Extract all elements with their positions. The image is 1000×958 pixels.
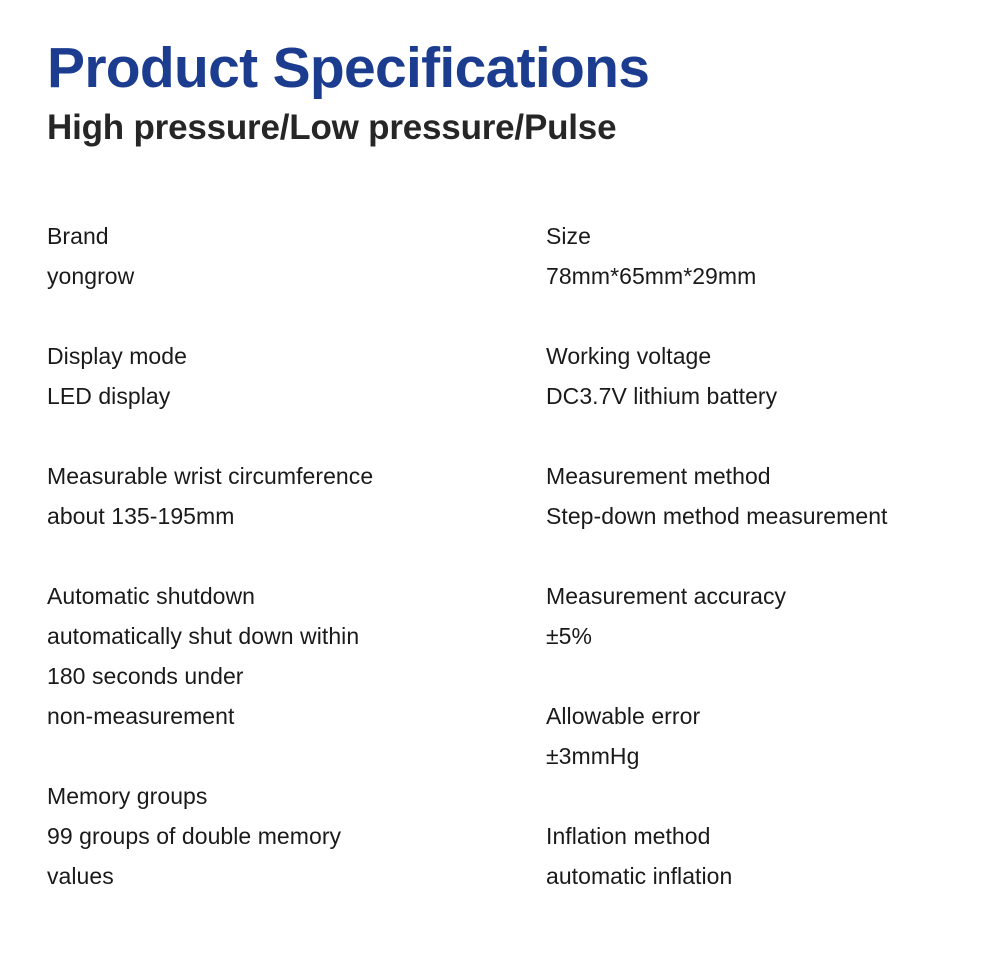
spec-group: Size78mm*65mm*29mm: [546, 216, 976, 296]
spec-label: Inflation method: [546, 816, 976, 856]
spec-value-line: 99 groups of double memory: [47, 816, 517, 856]
spec-label: Measurable wrist circumference: [47, 456, 517, 496]
spec-value-line: ±3mmHg: [546, 736, 976, 776]
spec-label: Working voltage: [546, 336, 976, 376]
page-title: Product Specifications: [47, 36, 947, 100]
spec-group: Allowable error±3mmHg: [546, 696, 976, 776]
spec-label: Brand: [47, 216, 517, 256]
spec-group: Automatic shutdownautomatically shut dow…: [47, 576, 517, 736]
spec-value-line: LED display: [47, 376, 517, 416]
spec-value-line: Step-down method measurement: [546, 496, 976, 536]
spec-value-line: non-measurement: [47, 696, 517, 736]
spec-value-line: ±5%: [546, 616, 976, 656]
spec-value-line: 78mm*65mm*29mm: [546, 256, 976, 296]
spec-value-line: DC3.7V lithium battery: [546, 376, 976, 416]
spec-group: Memory groups99 groups of double memoryv…: [47, 776, 517, 896]
spec-label: Size: [546, 216, 976, 256]
spec-value-line: automatic inflation: [546, 856, 976, 896]
spec-value-line: 180 seconds under: [47, 656, 517, 696]
spec-label: Memory groups: [47, 776, 517, 816]
spec-label: Measurement accuracy: [546, 576, 976, 616]
spec-value-line: values: [47, 856, 517, 896]
spec-value-line: about 135-195mm: [47, 496, 517, 536]
spec-value-line: yongrow: [47, 256, 517, 296]
spec-group: Working voltageDC3.7V lithium battery: [546, 336, 976, 416]
spec-group: Inflation methodautomatic inflation: [546, 816, 976, 896]
spec-group: Brandyongrow: [47, 216, 517, 296]
product-specifications-page: Product Specifications High pressure/Low…: [0, 0, 1000, 958]
spec-column-left: BrandyongrowDisplay modeLED displayMeasu…: [47, 216, 517, 896]
spec-group: Display modeLED display: [47, 336, 517, 416]
spec-group: Measurement accuracy±5%: [546, 576, 976, 656]
spec-group: Measurable wrist circumferenceabout 135-…: [47, 456, 517, 536]
page-subtitle: High pressure/Low pressure/Pulse: [47, 100, 947, 150]
spec-label: Automatic shutdown: [47, 576, 517, 616]
specifications-table: BrandyongrowDisplay modeLED displayMeasu…: [0, 216, 1000, 916]
spec-column-right: Size78mm*65mm*29mmWorking voltageDC3.7V …: [546, 216, 976, 896]
spec-label: Measurement method: [546, 456, 976, 496]
page-header: Product Specifications High pressure/Low…: [47, 36, 947, 150]
spec-label: Allowable error: [546, 696, 976, 736]
spec-value-line: automatically shut down within: [47, 616, 517, 656]
spec-label: Display mode: [47, 336, 517, 376]
spec-group: Measurement methodStep-down method measu…: [546, 456, 976, 536]
